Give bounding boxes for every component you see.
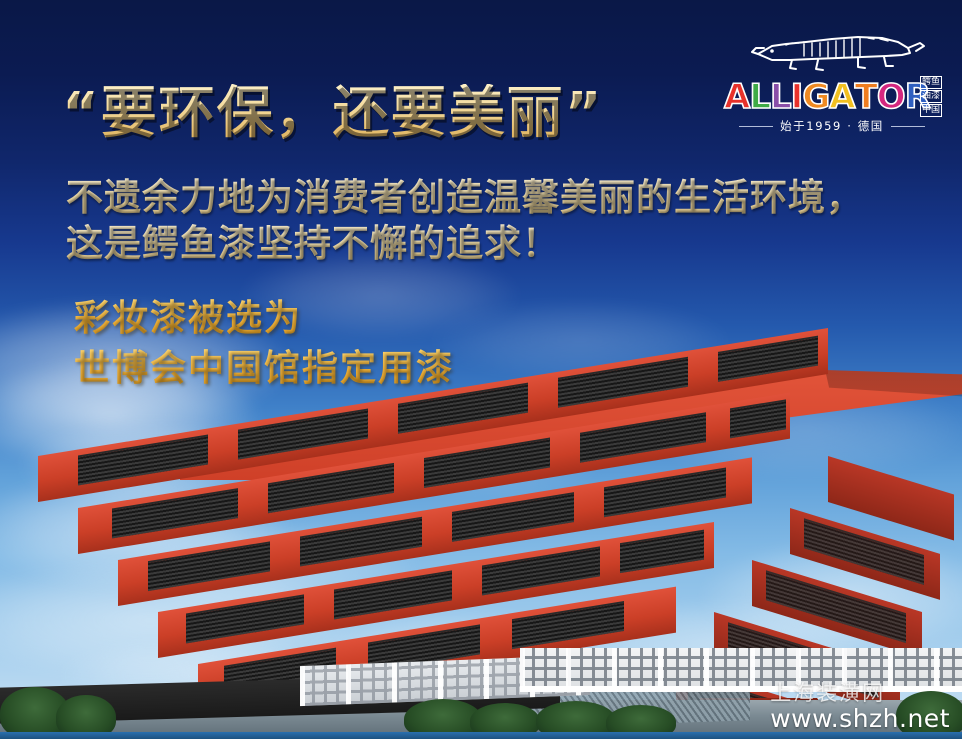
poster-canvas: “要环保，还要美丽” 不遗余力地为消费者创造温馨美丽的生活环境， 这是鳄鱼漆坚持… — [0, 0, 962, 739]
brand-logo[interactable]: A L L I G A T O R 鳄鱼 油漆 中国 始于1959 · 德国 — [724, 22, 940, 140]
logo-letter: L — [770, 80, 791, 114]
subtitle-line-1: 不遗余力地为消费者创造温馨美丽的生活环境， — [66, 176, 864, 220]
watermark: 上海装潢网 www.shzh.net — [770, 681, 950, 733]
logo-letter: L — [749, 80, 770, 114]
logo-chinese-badge: 鳄鱼 油漆 中国 — [920, 76, 942, 117]
tagline-rule-left — [739, 126, 773, 127]
tagline-rule-right — [891, 126, 925, 127]
claim-line-2: 世博会中国馆指定用漆 — [74, 348, 454, 390]
tagline-text: 始于1959 · 德国 — [780, 118, 884, 134]
badge-line: 中国 — [920, 104, 942, 117]
page-title: “要环保，还要美丽” — [62, 84, 604, 144]
wordmark: A L L I G A T O R — [724, 74, 940, 114]
logo-letter: I — [791, 80, 803, 114]
bottom-edge-bar — [0, 732, 962, 739]
logo-letter: O — [877, 80, 905, 114]
logo-letter: A — [829, 80, 854, 114]
logo-tagline: 始于1959 · 德国 — [724, 118, 940, 134]
claim-line-1: 彩妆漆被选为 — [74, 298, 302, 340]
logo-letter: G — [802, 80, 829, 114]
subtitle-line-2: 这是鳄鱼漆坚持不懈的追求！ — [66, 222, 560, 266]
badge-line: 鳄鱼 — [920, 76, 942, 89]
alligator-icon — [746, 22, 926, 78]
badge-line: 油漆 — [920, 90, 942, 103]
logo-letter: A — [724, 80, 749, 114]
watermark-url: www.shzh.net — [770, 705, 950, 733]
logo-letter: T — [855, 80, 877, 114]
watermark-site-name: 上海装潢网 — [770, 681, 950, 705]
